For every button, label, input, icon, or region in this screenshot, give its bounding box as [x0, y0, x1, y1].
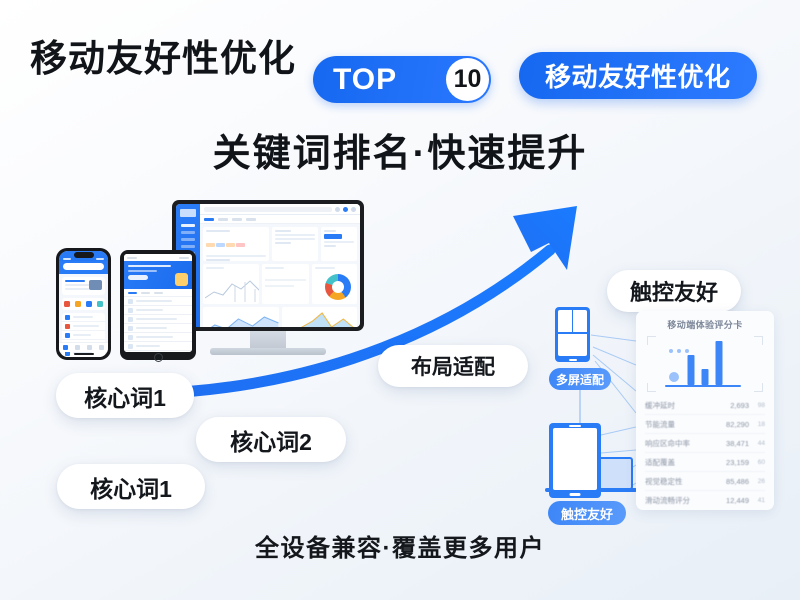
list-item: [124, 342, 192, 351]
phone-result-card: [62, 277, 105, 295]
keyword-pill-2[interactable]: 核心词2: [196, 417, 346, 462]
page-title: 移动友好性优化: [30, 28, 296, 82]
dashboard-topbar-dot: [351, 207, 356, 212]
keyword-pill-2-label: 核心词2: [230, 423, 312, 457]
list-item: [62, 322, 105, 331]
layout-adapt-pill[interactable]: 布局适配: [378, 345, 528, 387]
chart-baseline: [665, 385, 741, 388]
row-label: 缓冲延时: [645, 400, 723, 411]
score-card-title: 移动端体验评分卡: [645, 318, 765, 331]
large-phone-icon: [549, 423, 601, 498]
multi-screen-label: 多屏适配: [556, 371, 604, 388]
top-badge-number-circle: 10: [446, 58, 489, 101]
dashboard-logo: [180, 209, 196, 217]
tablet-mockup: [120, 250, 196, 360]
tablet-bezel: [120, 250, 196, 360]
dashboard-card: [203, 227, 269, 261]
keyword-pill-1-label: 核心词1: [84, 379, 166, 413]
dashboard-card: [272, 227, 318, 261]
sidebar-item: [181, 231, 195, 234]
row-value: 85,486: [723, 477, 749, 486]
area-chart: [282, 307, 358, 327]
row-label: 视觉稳定性: [645, 476, 723, 487]
dashboard-tab: [246, 218, 256, 221]
list-item: [62, 313, 105, 322]
row-label: 节能流量: [645, 419, 723, 430]
top-badge-number: 10: [454, 65, 482, 94]
dashboard-filter-row: [200, 224, 360, 264]
tablet-statusbar: [124, 254, 192, 261]
row-value: 12,449: [723, 496, 749, 505]
row-pct: 26: [749, 478, 765, 485]
table-row: 适配覆盖 23,159 60: [645, 453, 765, 472]
footer-tagline: 全设备兼容·覆盖更多用户: [0, 528, 800, 563]
tablet-promo-banner: [124, 261, 192, 289]
layout-adapt-label: 布局适配: [411, 351, 495, 381]
top-rank-badge: TOP 10: [313, 56, 491, 103]
multi-screen-pill[interactable]: 多屏适配: [549, 368, 611, 390]
phone-screen: [59, 251, 108, 357]
row-label: 适配覆盖: [645, 457, 723, 468]
row-label: 滑动流畅评分: [645, 495, 723, 506]
list-item: [124, 333, 192, 342]
tabbar-icon-profile[interactable]: [99, 345, 104, 350]
diagram-touch-friendly-label: 触控友好: [561, 504, 613, 523]
sidebar-item: [181, 238, 195, 241]
row-value: 38,471: [723, 439, 749, 448]
desktop-monitor-mockup: [172, 200, 364, 355]
monitor-bezel: [172, 200, 364, 331]
donut-chart: [325, 274, 351, 300]
frame-corner-icon: [647, 383, 656, 392]
phone-quick-icons: [62, 298, 105, 310]
sidebar-item: [181, 245, 195, 248]
monitor-stand-neck: [250, 331, 286, 348]
row-pct: 18: [749, 421, 765, 428]
table-row: 节能流量 82,290 18: [645, 415, 765, 434]
phone-mockup: [56, 248, 111, 360]
dashboard-card: [321, 227, 357, 261]
row-label: 响应区命中率: [645, 438, 723, 449]
table-row: 滑动流畅评分 12,449 41: [645, 491, 765, 510]
keyword-pill-1[interactable]: 核心词1: [56, 373, 194, 418]
row-pct: 44: [749, 440, 765, 447]
dashboard-search-bar: [204, 207, 332, 212]
phone-search-header: [59, 261, 108, 274]
tabbar-icon-discover[interactable]: [75, 345, 80, 350]
page-subtitle: 关键词排名·快速提升: [0, 122, 800, 177]
small-phone-icon: [555, 307, 590, 362]
dashboard-topbar: [200, 204, 360, 215]
row-pct: 60: [749, 459, 765, 466]
header-tag-label: 移动友好性优化: [545, 57, 731, 94]
diagram-vertical-connector: [579, 390, 581, 424]
top-badge-word: TOP: [333, 63, 397, 97]
location-pin-icon: [669, 372, 679, 382]
area-chart: [203, 307, 279, 327]
search-input[interactable]: [63, 263, 104, 270]
list-item: [124, 315, 192, 324]
list-item: [124, 324, 192, 333]
list-item: [124, 306, 192, 315]
dashboard-area-chart-card: [282, 307, 358, 327]
result-thumbnail: [89, 280, 102, 290]
poster-canvas: 移动友好性优化 TOP 10 移动友好性优化 关键词排名·快速提升: [0, 0, 800, 600]
mobile-experience-diagram: 多屏适配 触控友好 移动端体验评分卡: [535, 305, 775, 510]
table-row: 响应区命中率 38,471 44: [645, 434, 765, 453]
score-card-rows: 缓冲延时 2,693 98 节能流量 82,290 18 响应区命中率 38,4…: [645, 396, 765, 510]
table-row: 缓冲延时 2,693 98: [645, 396, 765, 415]
data-dots-icon: [669, 349, 689, 353]
tablet-banner-button: [128, 275, 148, 280]
dashboard-chart-row: [200, 264, 360, 307]
row-pct: 98: [749, 402, 765, 409]
touch-friendly-label: 触控友好: [630, 275, 718, 307]
tablet-tabs: [124, 289, 192, 297]
tabbar-icon-home[interactable]: [63, 345, 68, 350]
dashboard-body: [200, 204, 360, 327]
list-item: [62, 331, 105, 340]
phone-home-indicator: [74, 353, 94, 355]
tablet-banner-icon: [175, 273, 188, 286]
table-row: 视觉稳定性 85,486 26: [645, 472, 765, 491]
dashboard-donut-card: [312, 264, 357, 304]
phone-bezel: [56, 248, 111, 360]
device-mockup-group: [20, 188, 340, 348]
tablet-home-button[interactable]: [154, 353, 163, 362]
line-chart: [205, 278, 259, 302]
dashboard-topbar-dot: [335, 207, 340, 212]
mini-bar-chart: [688, 341, 723, 385]
list-item: [124, 297, 192, 306]
dashboard-card: [262, 264, 309, 304]
row-value: 23,159: [723, 458, 749, 467]
row-value: 82,290: [723, 420, 749, 429]
dashboard-tab: [218, 218, 228, 221]
monitor-screen: [176, 204, 360, 327]
tabbar-icon-message[interactable]: [87, 345, 92, 350]
keyword-pill-3-label: 核心词1: [90, 470, 172, 504]
keyword-pill-3[interactable]: 核心词1: [57, 464, 205, 509]
dashboard-tabs: [200, 215, 360, 224]
frame-corner-icon: [647, 336, 656, 345]
row-pct: 41: [749, 497, 765, 504]
row-value: 2,693: [723, 401, 749, 410]
dashboard-tab: [204, 218, 214, 221]
list-item: [124, 351, 192, 352]
frame-corner-icon: [754, 383, 763, 392]
diagram-touch-friendly-pill[interactable]: 触控友好: [548, 501, 626, 525]
dashboard-area-chart-card: [203, 307, 279, 327]
sidebar-item: [181, 224, 195, 227]
dashboard-area-row: [200, 307, 360, 327]
phone-notch: [74, 252, 94, 258]
phone-tabbar[interactable]: [59, 342, 108, 352]
dashboard-tab: [232, 218, 242, 221]
monitor-stand-base: [210, 348, 326, 355]
score-card-visual: [647, 336, 763, 392]
dashboard-line-chart-card: [203, 264, 259, 304]
tablet-screen: [124, 254, 192, 352]
mobile-score-card: 移动端体验评分卡 缓冲延时 2,693 98: [636, 311, 774, 510]
frame-corner-icon: [754, 336, 763, 345]
header-tag-pill: 移动友好性优化: [519, 52, 757, 99]
dashboard-topbar-dot: [343, 207, 348, 212]
